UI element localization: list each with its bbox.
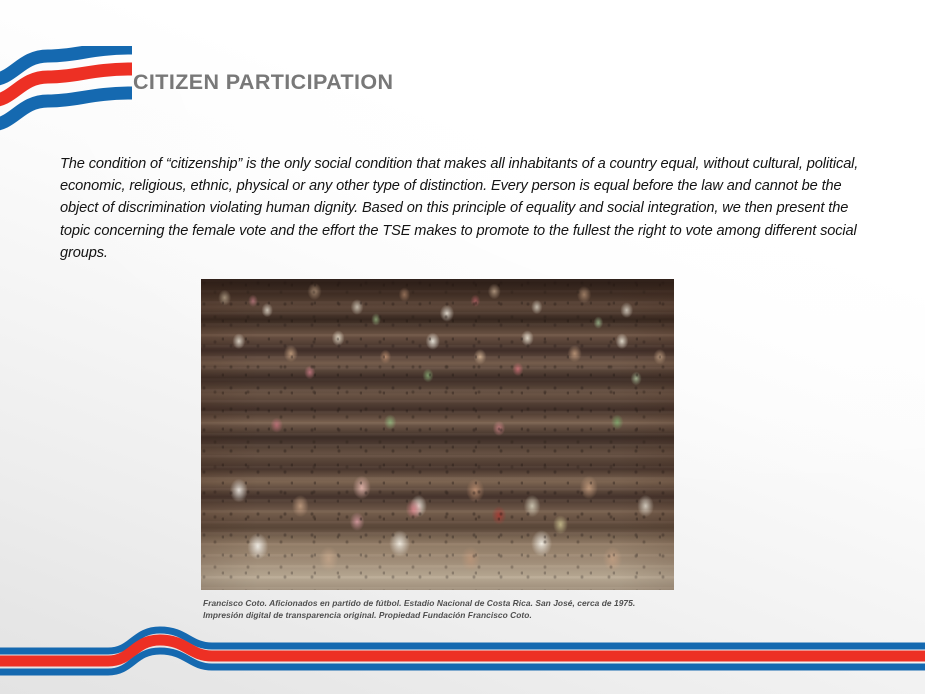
photo-caption: Francisco Coto. Aficionados en partido d… <box>203 598 703 621</box>
photo-caption-line-1: Francisco Coto. Aficionados en partido d… <box>203 598 703 610</box>
costa-rica-flag-ribbon <box>0 620 925 694</box>
photo-colour-tone <box>201 279 674 590</box>
photo-canvas <box>201 279 674 590</box>
page-title: CITIZEN PARTICIPATION <box>133 70 393 95</box>
stadium-crowd-photo <box>201 279 674 590</box>
slide-canvas: CITIZEN PARTICIPATION The condition of “… <box>0 0 925 694</box>
body-paragraph: The condition of “citizenship” is the on… <box>60 153 882 264</box>
costa-rica-flag-wave-logo <box>0 46 132 138</box>
